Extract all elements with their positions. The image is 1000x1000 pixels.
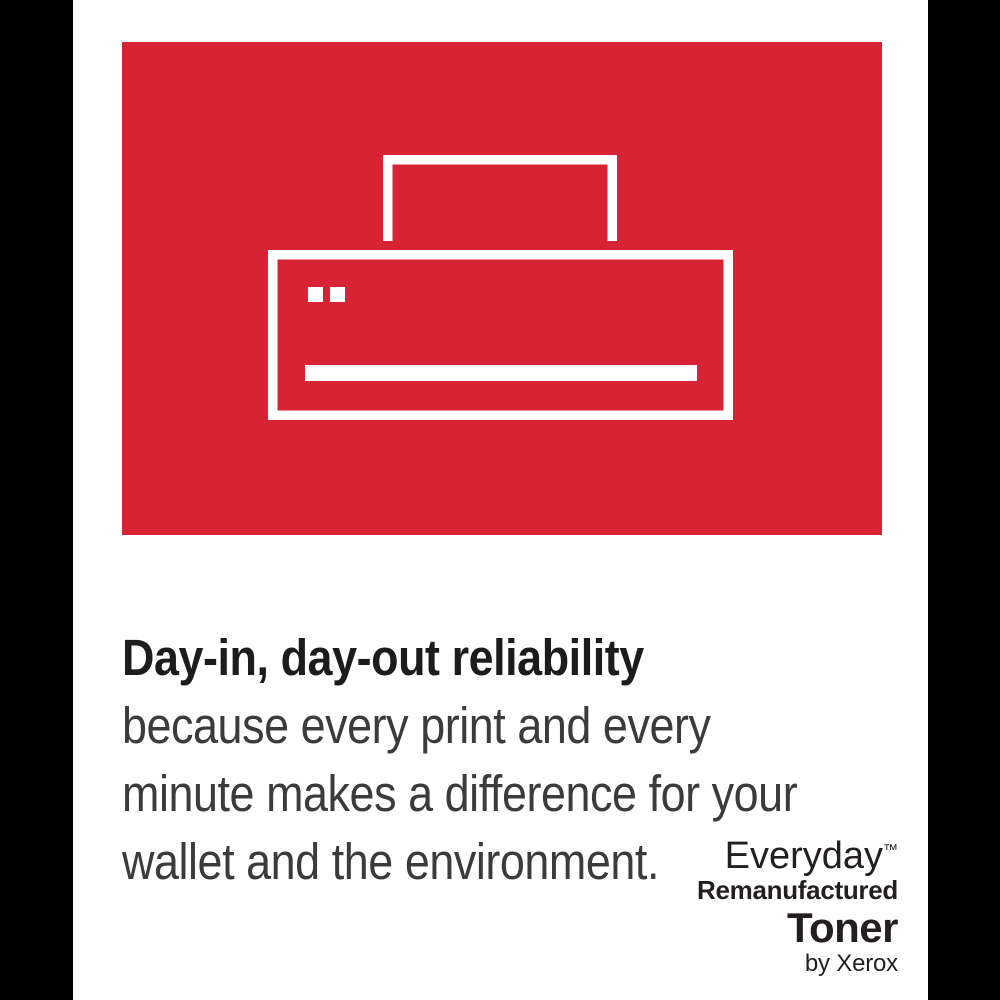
brand-lockup: Everyday™ Remanufactured Toner by Xerox — [578, 836, 898, 977]
brand-remanufactured: Remanufactured — [578, 876, 898, 905]
trademark-icon: ™ — [883, 841, 898, 858]
ad-creative-screen: Day-in, day-out reliability because ever… — [0, 0, 1000, 1000]
brand-toner: Toner — [578, 905, 898, 950]
copy-lede: Day-in, day-out reliability — [122, 629, 644, 686]
printer-indicator-light-1 — [308, 287, 323, 302]
brand-by-xerox: by Xerox — [578, 950, 898, 977]
paper-tray-outline — [383, 155, 617, 241]
letterbox-bar-right — [928, 0, 1000, 1000]
printer-indicator-light-2 — [330, 287, 345, 302]
printer-icon — [122, 42, 882, 535]
hero-red-panel — [122, 42, 882, 535]
content-canvas: Day-in, day-out reliability because ever… — [73, 0, 928, 1000]
letterbox-bar-left — [0, 0, 73, 1000]
brand-everyday-line: Everyday™ — [578, 836, 898, 876]
brand-everyday-word: Everyday — [725, 835, 883, 877]
printer-body-outline — [268, 250, 733, 420]
printer-output-slot — [305, 365, 697, 381]
